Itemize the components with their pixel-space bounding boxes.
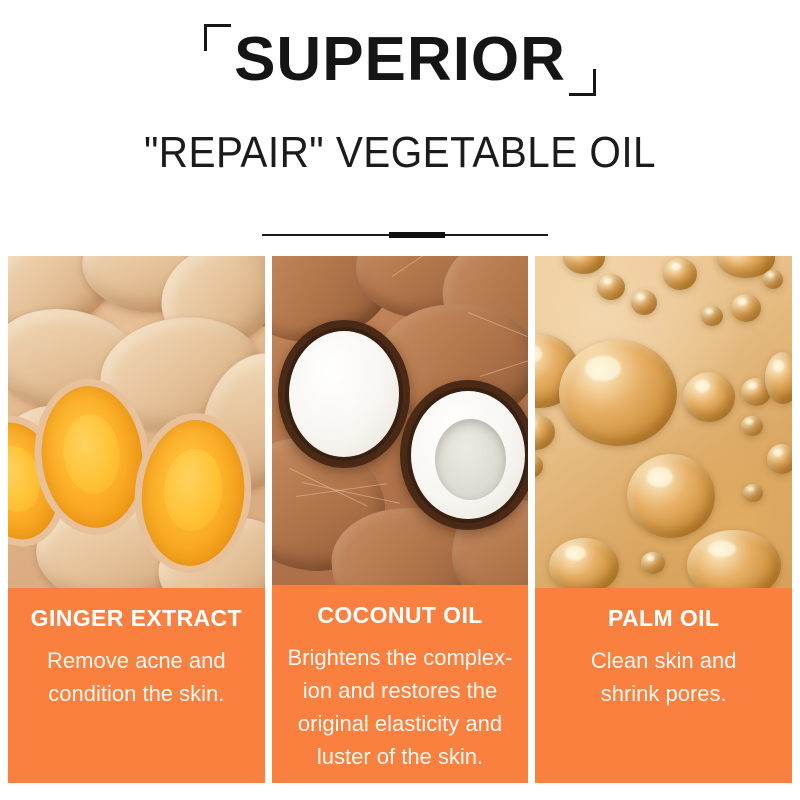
body-line: shrink pores. xyxy=(545,677,782,710)
section-divider xyxy=(262,234,548,236)
corner-bracket-bottom-right-icon xyxy=(569,69,596,96)
ginger-turmeric-roots-photo xyxy=(8,256,265,588)
body-line: Brightens the complex- xyxy=(282,641,519,674)
title-block: SUPERIOR xyxy=(0,22,800,98)
palm-caption: PALM OIL Clean skin and shrink pores. xyxy=(535,588,792,783)
golden-palm-oil-bubbles-photo xyxy=(535,256,792,588)
body-line: luster of the skin. xyxy=(282,740,519,773)
ingredient-body-palm: Clean skin and shrink pores. xyxy=(545,644,782,710)
body-line: ion and restores the xyxy=(282,674,519,707)
page-subtitle: "REPAIR" VEGETABLE OIL xyxy=(32,124,768,182)
halved-coconuts-photo xyxy=(272,256,529,585)
body-line: condition the skin. xyxy=(18,677,255,710)
ginger-caption: GINGER EXTRACT Remove acne and condition… xyxy=(8,588,265,783)
body-line: Clean skin and xyxy=(545,644,782,677)
ingredient-title-ginger: GINGER EXTRACT xyxy=(18,604,255,632)
page-header: SUPERIOR "REPAIR" VEGETABLE OIL xyxy=(0,0,800,248)
corner-bracket-top-left-icon xyxy=(204,24,231,51)
ingredient-body-ginger: Remove acne and condition the skin. xyxy=(18,644,255,710)
page-title: SUPERIOR xyxy=(234,22,566,98)
ingredient-title-coconut: COCONUT OIL xyxy=(282,601,519,629)
ingredient-title-palm: PALM OIL xyxy=(545,604,782,632)
ingredient-card-ginger[interactable]: GINGER EXTRACT Remove acne and condition… xyxy=(8,256,265,783)
ingredient-panel-row: GINGER EXTRACT Remove acne and condition… xyxy=(8,256,792,783)
body-line: Remove acne and xyxy=(18,644,255,677)
coconut-caption: COCONUT OIL Brightens the complex- ion a… xyxy=(272,585,529,783)
ingredient-card-coconut[interactable]: COCONUT OIL Brightens the complex- ion a… xyxy=(272,256,529,783)
body-line: original elasticity and xyxy=(282,707,519,740)
ingredient-card-palm[interactable]: PALM OIL Clean skin and shrink pores. xyxy=(535,256,792,783)
divider-center-accent xyxy=(389,232,445,238)
ingredient-body-coconut: Brightens the complex- ion and restores … xyxy=(282,641,519,773)
